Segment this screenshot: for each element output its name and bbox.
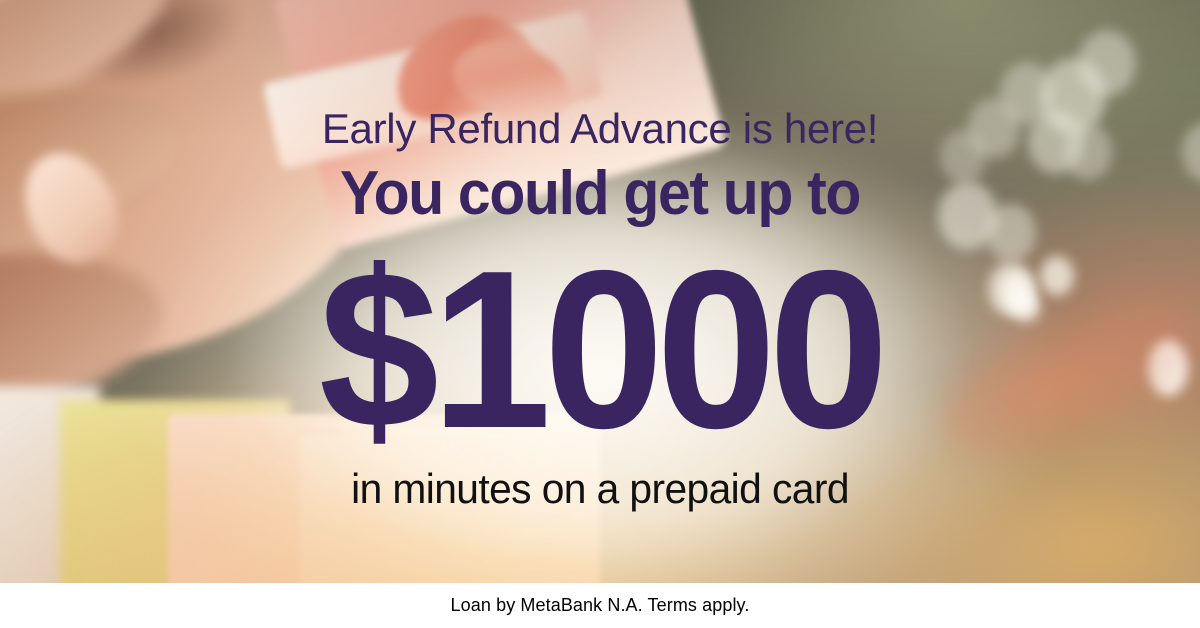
promotional-banner: Early Refund Advance is here! You could … — [0, 0, 1200, 628]
headline-block: Early Refund Advance is here! You could … — [0, 0, 1200, 583]
headline-lead: You could get up to — [30, 163, 1170, 225]
headline-amount: $1000 — [24, 237, 1176, 462]
disclaimer-footer: Loan by MetaBank N.A. Terms apply. — [0, 583, 1200, 628]
headline-tail: in minutes on a prepaid card — [18, 468, 1182, 510]
headline-eyebrow: Early Refund Advance is here! — [0, 108, 1200, 150]
disclaimer-text: Loan by MetaBank N.A. Terms apply. — [451, 595, 750, 616]
